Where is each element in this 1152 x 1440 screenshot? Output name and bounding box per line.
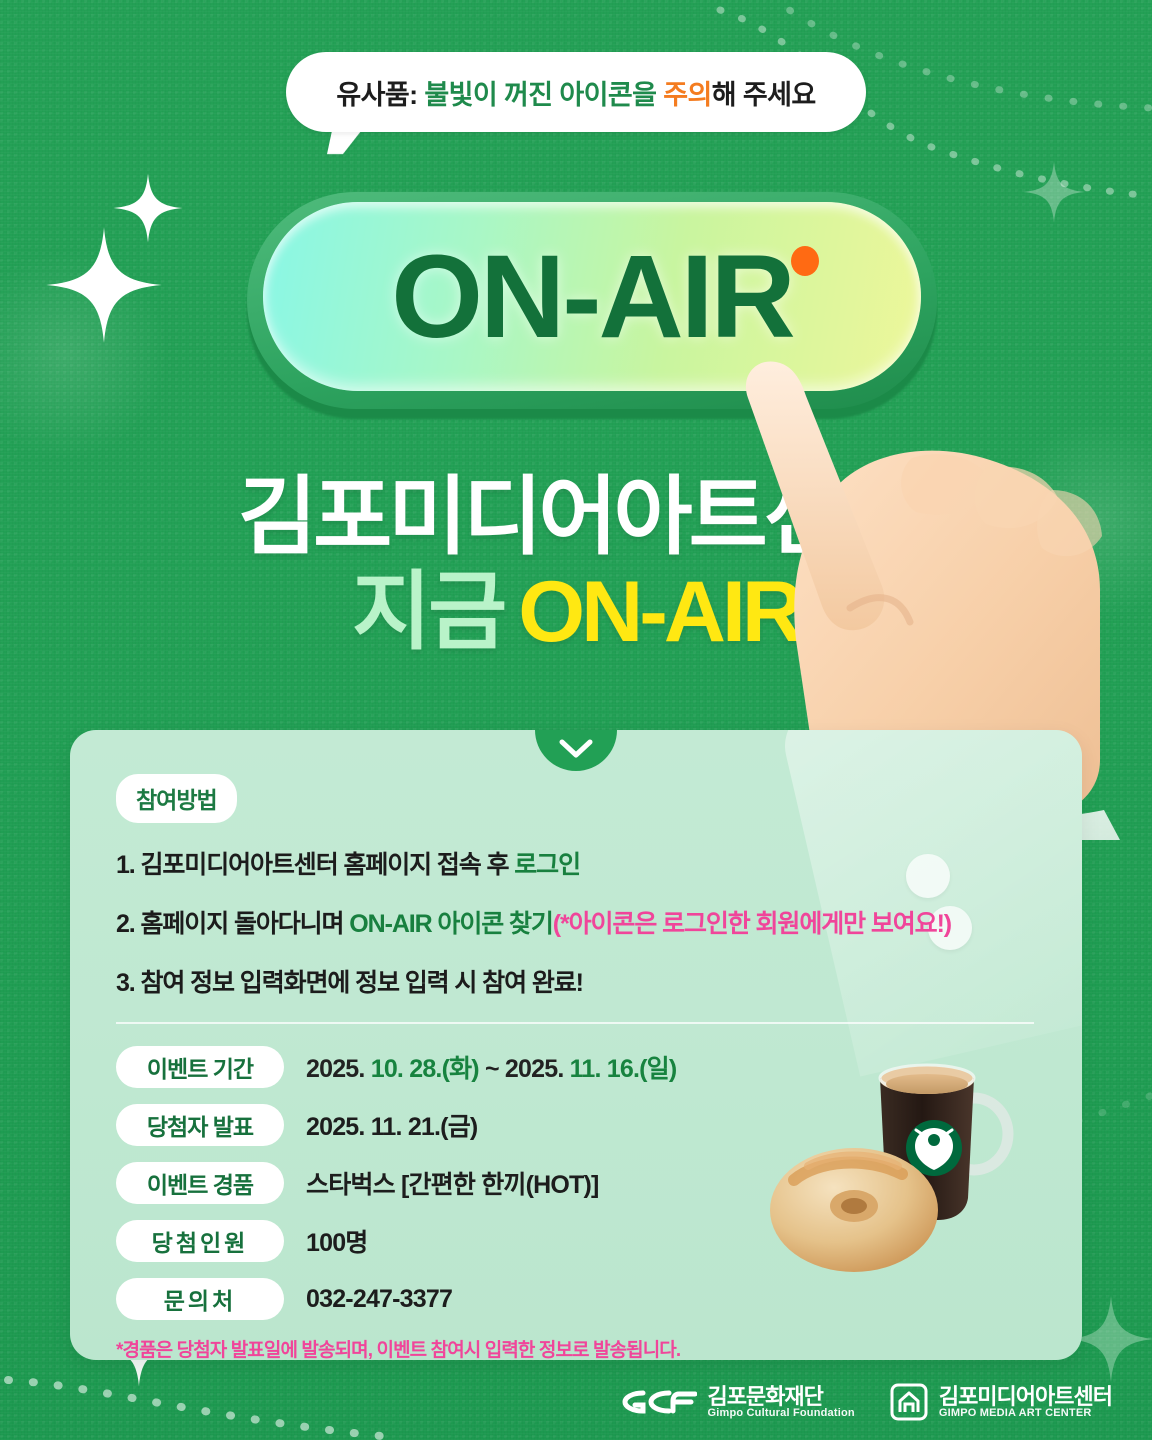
- footer-logos: 김포문화재단 Gimpo Cultural Foundation 김포미디어아트…: [0, 1382, 1152, 1422]
- how-to-steps: 1. 김포미디어아트센터 홈페이지 접속 후 로그인 2. 홈페이지 돌아다니며…: [116, 845, 1036, 999]
- notice-speech-bubble: 유사품: 불빛이 꺼진 아이콘을 주의해 주세요: [286, 52, 866, 132]
- step-item: 1. 김포미디어아트센터 홈페이지 접속 후 로그인: [116, 845, 1036, 881]
- page-title: 김포미디어아트센터 지금ON-AIR: [0, 472, 1152, 661]
- event-poster: 유사품: 불빛이 꺼진 아이콘을 주의해 주세요 ON-AIR 김포미디어아트센…: [0, 0, 1152, 1440]
- detail-label: 이벤트 기간: [116, 1046, 284, 1088]
- step-text: 3. 참여 정보 입력화면에 정보 입력 시 참여 완료!: [116, 969, 583, 997]
- sparkle-icon: [1022, 160, 1086, 224]
- gcf-logo-ko: 김포문화재단: [707, 1385, 854, 1408]
- headline-line1: 김포미디어아트센터: [0, 472, 1152, 562]
- gcf-logo-en: Gimpo Cultural Foundation: [707, 1408, 854, 1420]
- gcf-logo-mark: [621, 1387, 697, 1417]
- gcf-logo: 김포문화재단 Gimpo Cultural Foundation: [621, 1385, 854, 1420]
- step-text: 1. 김포미디어아트센터 홈페이지 접속 후: [116, 851, 514, 879]
- detail-label: 당첨자 발표: [116, 1104, 284, 1146]
- detail-value: 2025. 10. 28.(화) ~ 2025. 11. 16.(일): [306, 1049, 676, 1085]
- event-info-card: 참여방법 1. 김포미디어아트센터 홈페이지 접속 후 로그인 2. 홈페이지 …: [70, 730, 1082, 1360]
- gmac-logo-en: GIMPO MEDIA ART CENTER: [939, 1408, 1112, 1420]
- gmac-logo-ko: 김포미디어아트센터: [939, 1385, 1112, 1408]
- event-notes: *경품은 당첨자 발표일에 발송되며, 이벤트 참여시 입력한 정보로 발송됩니…: [116, 1336, 1036, 1360]
- detail-label: 문의처: [116, 1278, 284, 1320]
- detail-label: 이벤트 경품: [116, 1162, 284, 1204]
- notice-orange: 주의: [663, 80, 711, 110]
- sparkle-icon: [44, 225, 164, 345]
- gimpo-media-art-center-logo: 김포미디어아트센터 GIMPO MEDIA ART CENTER: [889, 1382, 1112, 1422]
- gcf-logo-text: 김포문화재단 Gimpo Cultural Foundation: [707, 1385, 854, 1420]
- notice-suffix: 해 주세요: [712, 80, 816, 110]
- section-divider: [116, 1022, 1034, 1024]
- on-air-button-face[interactable]: ON-AIR: [263, 202, 921, 391]
- on-air-button[interactable]: ON-AIR: [247, 192, 937, 409]
- on-air-label: ON-AIR: [391, 238, 793, 356]
- notice-text: 유사품: 불빛이 꺼진 아이콘을 주의해 주세요: [336, 73, 815, 112]
- step-emphasis: ON-AIR 아이콘 찾기: [349, 910, 552, 938]
- notice-green: 불빛이 꺼진 아이콘을: [424, 80, 663, 110]
- sparkle-icon: [112, 172, 184, 244]
- prize-image: [762, 1048, 1042, 1288]
- step-note: (*아이콘은 로그인한 회원에게만 보여요!): [553, 910, 951, 938]
- detail-value: 스타벅스 [간편한 한끼(HOT)]: [306, 1165, 599, 1201]
- note-line: *경품은 당첨자 발표일에 발송되며, 이벤트 참여시 입력한 정보로 발송됩니…: [116, 1336, 1036, 1360]
- gimpo-media-art-center-logo-mark: [889, 1382, 929, 1422]
- notice-prefix: 유사품:: [336, 80, 424, 110]
- glow-decoration: [0, 250, 170, 460]
- detail-value: 100명: [306, 1223, 368, 1259]
- step-item: 2. 홈페이지 돌아다니며 ON-AIR 아이콘 찾기(*아이콘은 로그인한 회…: [116, 904, 1036, 940]
- step-emphasis: 로그인: [514, 851, 580, 879]
- headline-line2-mint: 지금: [352, 564, 504, 660]
- headline-line2: 지금ON-AIR: [0, 564, 1152, 660]
- detail-value: 032-247-3377: [306, 1285, 452, 1314]
- gmac-logo-text: 김포미디어아트센터 GIMPO MEDIA ART CENTER: [939, 1385, 1112, 1420]
- step-text: 2. 홈페이지 돌아다니며: [116, 910, 349, 938]
- on-air-indicator-dot: [791, 246, 819, 276]
- detail-label: 당첨인원: [116, 1220, 284, 1262]
- step-item: 3. 참여 정보 입력화면에 정보 입력 시 참여 완료!: [116, 963, 1036, 999]
- detail-value: 2025. 11. 21.(금): [306, 1107, 477, 1143]
- how-to-badge: 참여방법: [116, 774, 237, 823]
- on-air-label-text: ON-AIR: [391, 231, 793, 363]
- headline-line2-yellow: ON-AIR: [518, 564, 800, 660]
